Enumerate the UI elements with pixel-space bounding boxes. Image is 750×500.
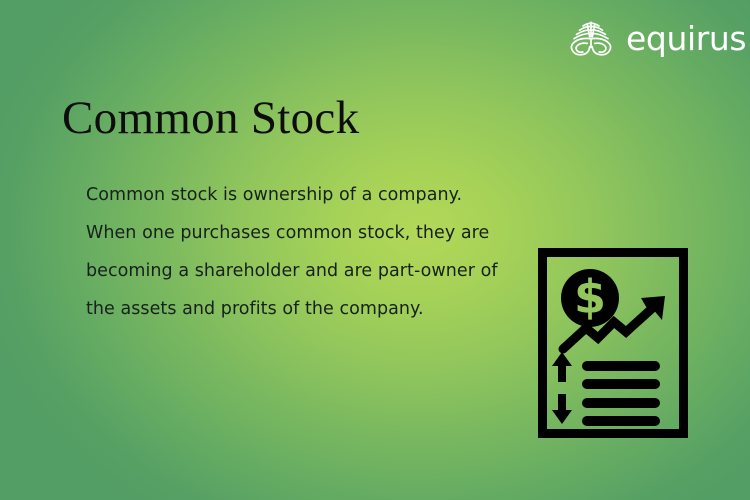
svg-text:$: $ [574, 270, 606, 324]
paragraph-line: becoming a shareholder and are part-owne… [86, 252, 516, 290]
vertical-double-arrow-icon [552, 352, 572, 424]
brand-logo[interactable]: equirus [565, 16, 746, 60]
brand-wordmark: equirus [626, 22, 746, 55]
text-bar [582, 379, 660, 389]
text-bar [582, 398, 660, 408]
equirus-tree-logo-mark-icon [565, 16, 617, 60]
text-bar [582, 416, 660, 426]
dollar-coin-icon: $ [561, 269, 619, 327]
paragraph-line: Common stock is ownership of a company. [86, 176, 516, 214]
stock-report-document-icon: $ [538, 248, 688, 438]
paragraph-line: the assets and profits of the company. [86, 290, 516, 328]
text-bar-group [582, 361, 660, 426]
page-title: Common Stock [62, 92, 359, 144]
text-bar [582, 361, 660, 371]
slide-canvas: equirus Common Stock Common stock is own… [0, 0, 750, 500]
paragraph-line: When one purchases common stock, they ar… [86, 214, 516, 252]
definition-paragraph: Common stock is ownership of a company. … [86, 176, 516, 328]
